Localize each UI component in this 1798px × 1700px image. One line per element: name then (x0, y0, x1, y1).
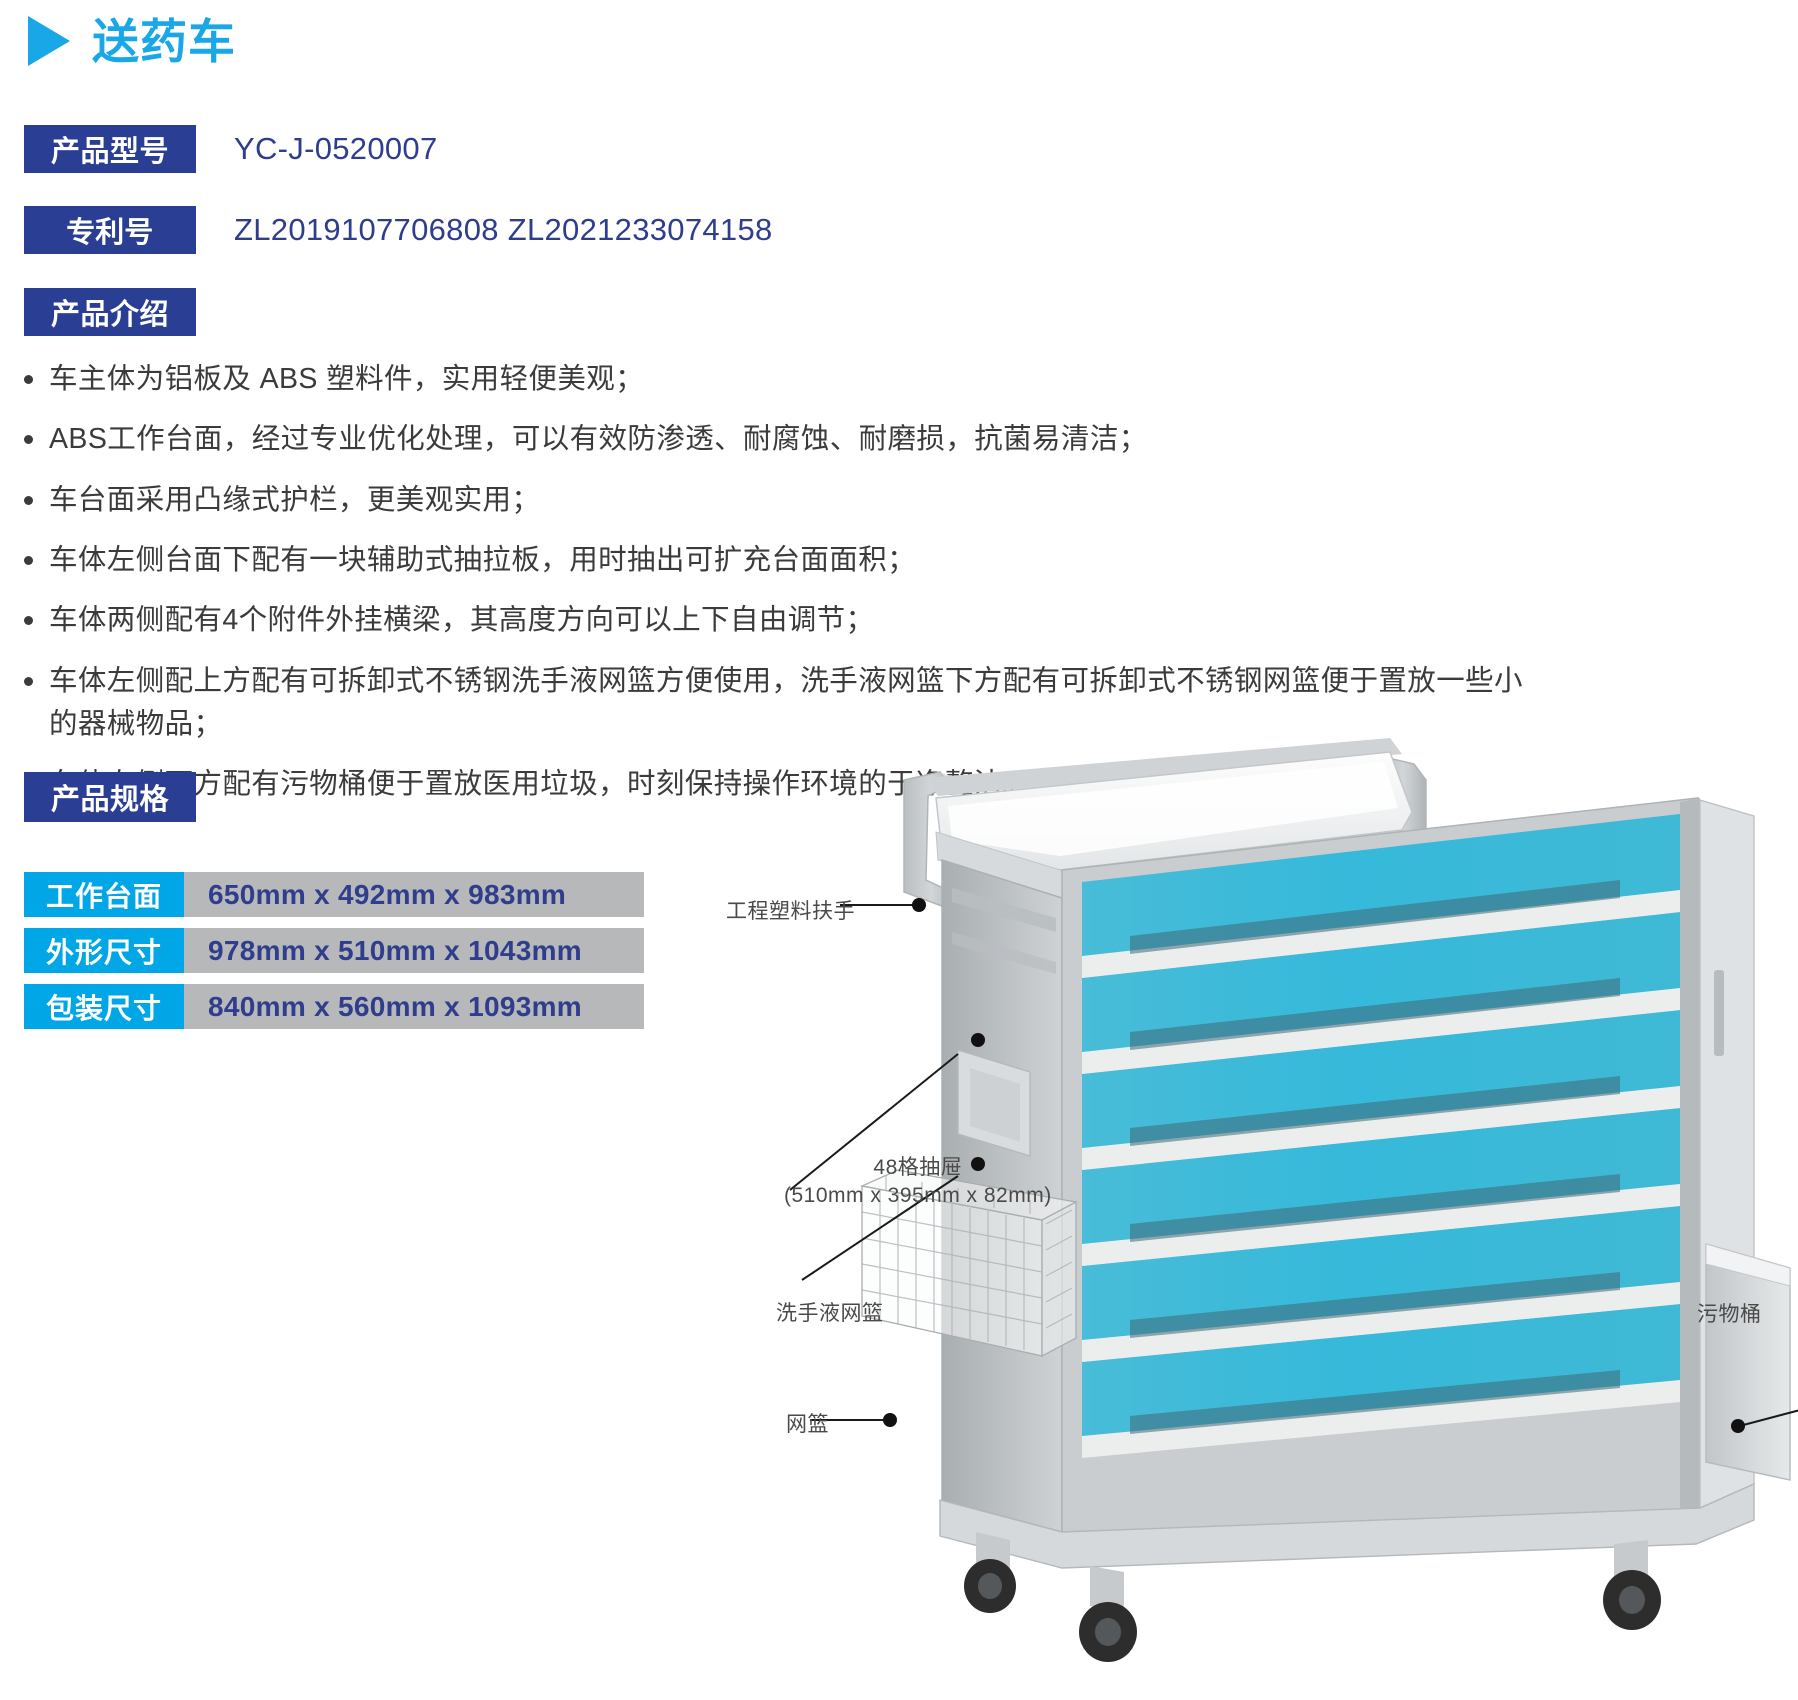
caster-front-left (1079, 1566, 1137, 1662)
patent-number-row: 专利号 ZL2019107706808 ZL2021233074158 (24, 206, 773, 254)
bullet-dot-icon (24, 375, 33, 384)
bullet-dot-icon (24, 435, 33, 444)
callout-soap-basket: 洗手液网篮 (776, 1300, 884, 1328)
callout-drawer: 48格抽屉 (510mm x 395mm x 82mm) (784, 1154, 1052, 1211)
spec-key: 外形尺寸 (24, 928, 184, 973)
bullet-dot-icon (24, 496, 33, 505)
list-item-text: 车台面采用凸缘式护栏，更美观实用； (49, 479, 1524, 522)
list-item-text: 车主体为铝板及 ABS 塑料件，实用轻便美观； (49, 358, 1524, 401)
list-item-text: 车体左侧台面下配有一块辅助式抽拉板，用时抽出可扩充台面面积； (49, 539, 1524, 582)
callout-drawer-size: (510mm x 395mm x 82mm) (784, 1182, 1052, 1210)
bullet-dot-icon (24, 677, 33, 686)
product-intro-label: 产品介绍 (24, 288, 196, 336)
product-model-row: 产品型号 YC-J-0520007 (24, 125, 438, 173)
page-title: 送药车 (92, 18, 236, 65)
callout-wire-basket: 网篮 (786, 1411, 829, 1439)
page-title-row: 送药车 (28, 16, 236, 66)
patent-number-label: 专利号 (24, 206, 196, 254)
list-item: 车体左侧台面下配有一块辅助式抽拉板，用时抽出可扩充台面面积； (24, 539, 1524, 582)
list-item-text: 车体两侧配有4个附件外挂横梁，其高度方向可以上下自由调节； (49, 599, 1524, 642)
spec-key: 工作台面 (24, 872, 184, 917)
spec-value: 650mm x 492mm x 983mm (184, 872, 644, 917)
product-spec-table: 工作台面 650mm x 492mm x 983mm 外形尺寸 978mm x … (24, 872, 644, 1040)
waste-bin (1706, 1244, 1790, 1480)
callout-drawer-name: 48格抽屉 (784, 1154, 1052, 1182)
patent-number-value: ZL2019107706808 ZL2021233074158 (234, 212, 773, 248)
table-row: 包装尺寸 840mm x 560mm x 1093mm (24, 984, 644, 1029)
product-spec-label: 产品规格 (24, 772, 196, 822)
patent-label-text-3: 号 (124, 209, 154, 251)
spec-value: 978mm x 510mm x 1043mm (184, 928, 644, 973)
list-item: 车台面采用凸缘式护栏，更美观实用； (24, 479, 1524, 522)
drawer-stack (1062, 798, 1700, 1532)
list-item: 车体两侧配有4个附件外挂横梁，其高度方向可以上下自由调节； (24, 599, 1524, 642)
callout-handle: 工程塑料扶手 (726, 898, 855, 926)
play-triangle-icon (28, 16, 70, 66)
bullet-dot-icon (24, 556, 33, 565)
spec-value: 840mm x 560mm x 1093mm (184, 984, 644, 1029)
list-item: 车主体为铝板及 ABS 塑料件，实用轻便美观； (24, 358, 1524, 401)
product-model-label: 产品型号 (24, 125, 196, 173)
product-catalog-page: 送药车 产品型号 YC-J-0520007 专利号 ZL201910770680… (0, 0, 1798, 1700)
spec-key: 包装尺寸 (24, 984, 184, 1029)
side-latch-icon[interactable] (1714, 970, 1724, 1056)
list-item-text: ABS工作台面，经过专业优化处理，可以有效防渗透、耐腐蚀、耐磨损，抗菌易清洁； (49, 418, 1524, 461)
product-model-value: YC-J-0520007 (234, 131, 438, 167)
table-row: 外形尺寸 978mm x 510mm x 1043mm (24, 928, 644, 973)
callout-waste-bin: 污物桶 (1697, 1301, 1762, 1329)
bullet-dot-icon (24, 616, 33, 625)
list-item: ABS工作台面，经过专业优化处理，可以有效防渗透、耐腐蚀、耐磨损，抗菌易清洁； (24, 418, 1524, 461)
caster-front-right (1603, 1540, 1661, 1630)
table-row: 工作台面 650mm x 492mm x 983mm (24, 872, 644, 917)
